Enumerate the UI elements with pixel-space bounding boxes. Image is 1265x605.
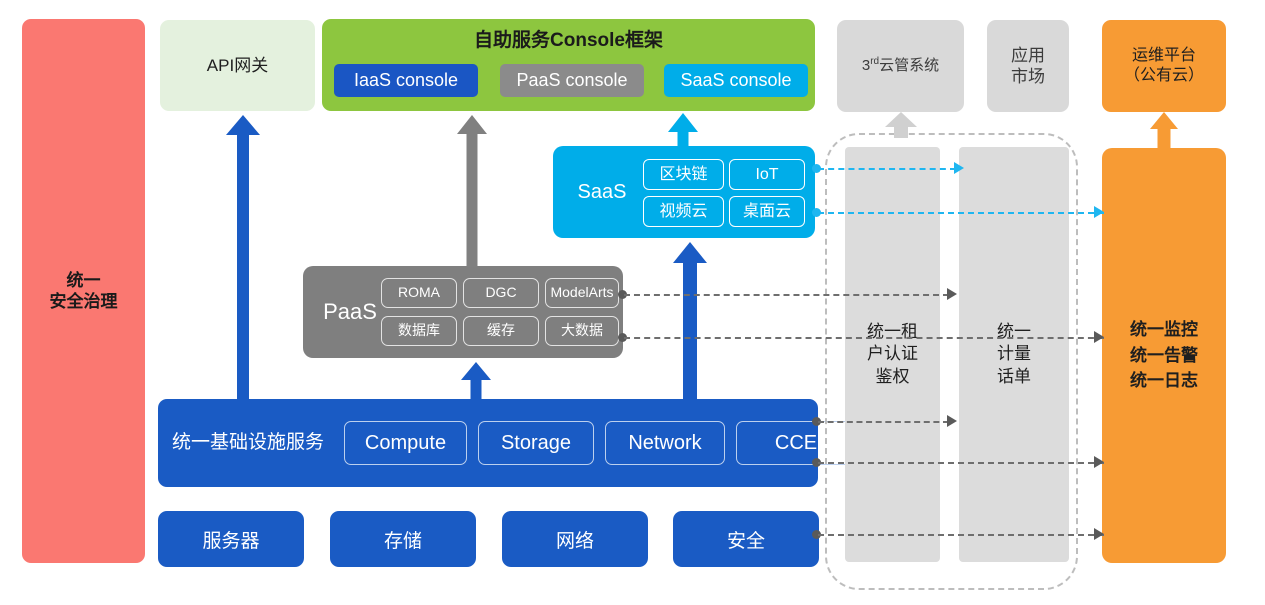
paas-chip-cache[interactable]: 缓存 [463, 316, 539, 346]
architecture-diagram: 统一安全治理 API网关 自助服务Console框架 IaaS console … [0, 0, 1265, 605]
infra-chip-cce-label: CCE [775, 431, 817, 456]
hardware-box-security[interactable]: 安全 [673, 511, 819, 567]
third-party-cloud-management-label: 3rd云管系统 [862, 56, 939, 76]
paas-chip-dgc[interactable]: DGC [463, 278, 539, 308]
connector-arrow-hardware-ops [1094, 528, 1104, 540]
infra-chip-network-label: Network [628, 431, 701, 456]
unified-metering-billing-column: 统一计量话单 [959, 147, 1069, 562]
console-chip-saas[interactable]: SaaS console [664, 64, 808, 97]
arrow-saas-to-console [668, 113, 698, 147]
unified-tenant-auth-label: 统一租户认证鉴权 [867, 321, 918, 387]
paas-chip-roma[interactable]: ROMA [381, 278, 457, 308]
saas-chip-desktop-cloud-label: 桌面云 [743, 202, 791, 222]
saas-layer-label: SaaS [565, 146, 639, 238]
infra-chip-storage-label: Storage [501, 431, 571, 456]
saas-layer-box: SaaS 区块链 IoT 视频云 桌面云 [553, 146, 815, 238]
saas-chip-video-cloud[interactable]: 视频云 [643, 196, 724, 227]
hardware-box-storage[interactable]: 存储 [330, 511, 476, 567]
paas-chip-bigdata[interactable]: 大数据 [545, 316, 619, 346]
paas-chip-roma-label: ROMA [398, 284, 440, 302]
paas-chip-modelarts-label: ModelArts [550, 284, 613, 302]
hardware-box-server[interactable]: 服务器 [158, 511, 304, 567]
connector-saas-to-auth [818, 168, 956, 170]
connector-paas-to-ops [624, 337, 1104, 339]
saas-chip-blockchain[interactable]: 区块链 [643, 159, 724, 190]
paas-chip-bigdata-label: 大数据 [561, 322, 603, 340]
console-framework-title: 自助服务Console框架 [322, 29, 815, 53]
connector-arrow-infra-auth [947, 415, 957, 427]
console-chip-saas-label: SaaS console [680, 69, 791, 92]
connector-arrow-saas-auth [954, 162, 964, 174]
unified-monitoring-panel: 统一监控统一告警统一日志 [1102, 148, 1226, 563]
console-chip-paas[interactable]: PaaS console [500, 64, 644, 97]
arrow-paas-to-console [457, 115, 487, 267]
paas-layer-box: PaaS ROMA DGC ModelArts 数据库 缓存 大数据 [303, 266, 623, 358]
connector-infra-to-ops [818, 462, 1104, 464]
saas-chip-iot[interactable]: IoT [729, 159, 805, 190]
unified-infrastructure-service-label: 统一基础设施服务 [172, 399, 324, 487]
app-market-box: 应用市场 [987, 20, 1069, 112]
connector-arrow-infra-ops [1094, 456, 1104, 468]
infra-chip-storage[interactable]: Storage [478, 421, 594, 465]
console-chip-iaas[interactable]: IaaS console [334, 64, 478, 97]
paas-chip-database-label: 数据库 [398, 322, 440, 340]
hardware-box-network[interactable]: 网络 [502, 511, 648, 567]
unified-tenant-auth-column: 统一租户认证鉴权 [845, 147, 940, 562]
arrow-infra-to-api-gateway [226, 115, 260, 400]
third-party-cloud-management-box: 3rd云管系统 [837, 20, 964, 112]
paas-chip-database[interactable]: 数据库 [381, 316, 457, 346]
saas-chip-iot-label: IoT [755, 165, 778, 185]
api-gateway-box: API网关 [160, 20, 315, 111]
console-framework-box: 自助服务Console框架 IaaS console PaaS console … [322, 19, 815, 111]
console-chip-iaas-label: IaaS console [354, 69, 458, 92]
arrow-infra-to-saas [673, 242, 707, 400]
api-gateway-label: API网关 [207, 55, 268, 76]
security-governance-label: 统一安全治理 [50, 270, 118, 313]
paas-chip-modelarts[interactable]: ModelArts [545, 278, 619, 308]
infra-chip-compute-label: Compute [365, 431, 446, 456]
unified-metering-billing-label: 统一计量话单 [997, 321, 1031, 387]
connector-infra-to-auth [818, 421, 949, 423]
hardware-box-network-label: 网络 [556, 526, 594, 553]
connector-arrow-paas-auth [947, 288, 957, 300]
console-chip-paas-label: PaaS console [516, 69, 627, 92]
connector-paas-to-auth [624, 294, 949, 296]
ops-platform-public-cloud-label: 运维平台（公有云） [1124, 46, 1204, 86]
connector-arrow-paas-ops [1094, 331, 1104, 343]
saas-chip-blockchain-label: 区块链 [659, 165, 707, 185]
ops-platform-public-cloud-box: 运维平台（公有云） [1102, 20, 1226, 112]
unified-infrastructure-service-box: 统一基础设施服务 Compute Storage Network CCE [158, 399, 818, 487]
hardware-box-security-label: 安全 [727, 526, 765, 553]
arrow-to-ops-platform [1150, 112, 1178, 150]
saas-chip-video-cloud-label: 视频云 [659, 202, 707, 222]
hardware-box-storage-label: 存储 [384, 526, 422, 553]
connector-arrow-saas-ops [1094, 206, 1104, 218]
paas-chip-dgc-label: DGC [485, 284, 516, 302]
security-governance-panel: 统一安全治理 [22, 19, 145, 563]
arrow-to-third-party-cloud [885, 112, 917, 138]
arrow-infra-to-paas [461, 362, 491, 400]
connector-saas-to-ops [818, 212, 1104, 214]
app-market-label: 应用市场 [1011, 45, 1045, 88]
hardware-box-server-label: 服务器 [202, 526, 259, 553]
saas-chip-desktop-cloud[interactable]: 桌面云 [729, 196, 805, 227]
paas-layer-label: PaaS [311, 266, 389, 358]
unified-monitoring-label: 统一监控统一告警统一日志 [1130, 317, 1198, 394]
infra-chip-network[interactable]: Network [605, 421, 725, 465]
connector-hardware-to-ops [818, 534, 1104, 536]
infra-chip-compute[interactable]: Compute [344, 421, 467, 465]
paas-chip-cache-label: 缓存 [487, 322, 515, 340]
